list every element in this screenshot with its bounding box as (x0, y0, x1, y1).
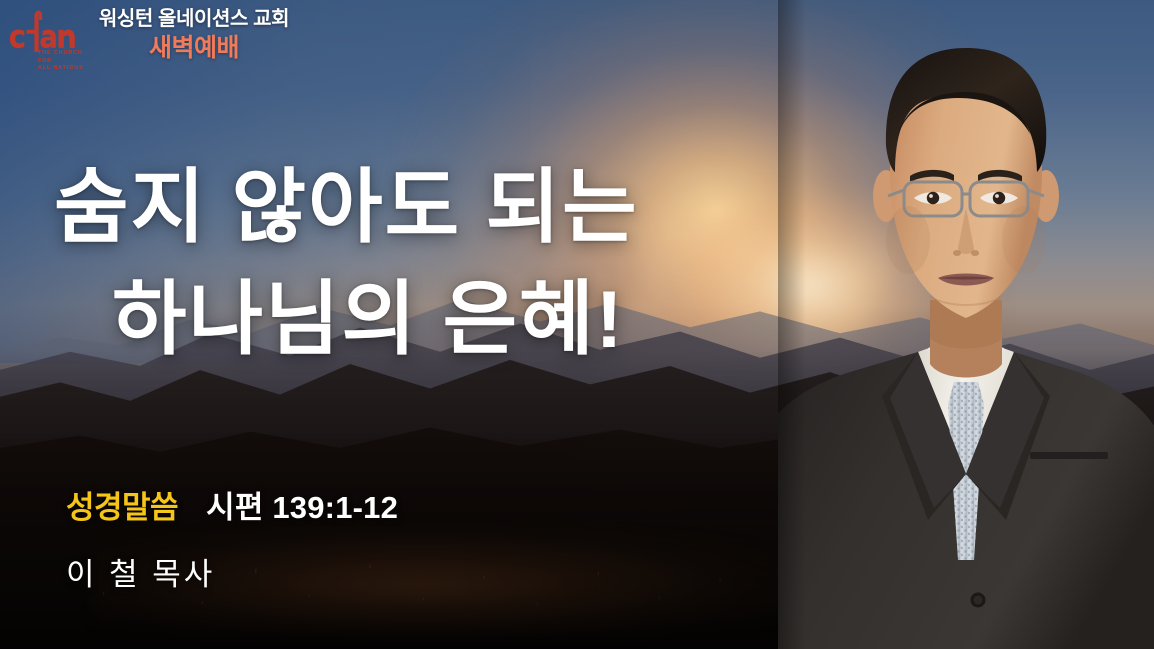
sermon-title-line-2: 하나님의 은혜! (0, 264, 800, 376)
service-name: 새벽예배 (64, 32, 324, 64)
sermon-title: 숨지 않아도 되는 하나님의 은혜! (0, 152, 800, 376)
scripture-label: 성경말씀 (66, 482, 178, 527)
scripture-row: 성경말씀 시편 139:1-12 (66, 482, 398, 527)
speaker-name: 이 철 목사 (66, 549, 215, 594)
church-name: 워싱턴 올네이션스 교회 (64, 6, 324, 32)
header-text-block: 워싱턴 올네이션스 교회 새벽예배 (64, 6, 324, 64)
scripture-reference: 시편 139:1-12 (206, 482, 398, 527)
pastor-portrait (778, 0, 1154, 649)
sermon-title-line-1: 숨지 않아도 되는 (0, 152, 800, 264)
sermon-title-card: THE CHURCH FOR ALL NATIONS 워싱턴 올네이션스 교회 … (0, 0, 1154, 649)
